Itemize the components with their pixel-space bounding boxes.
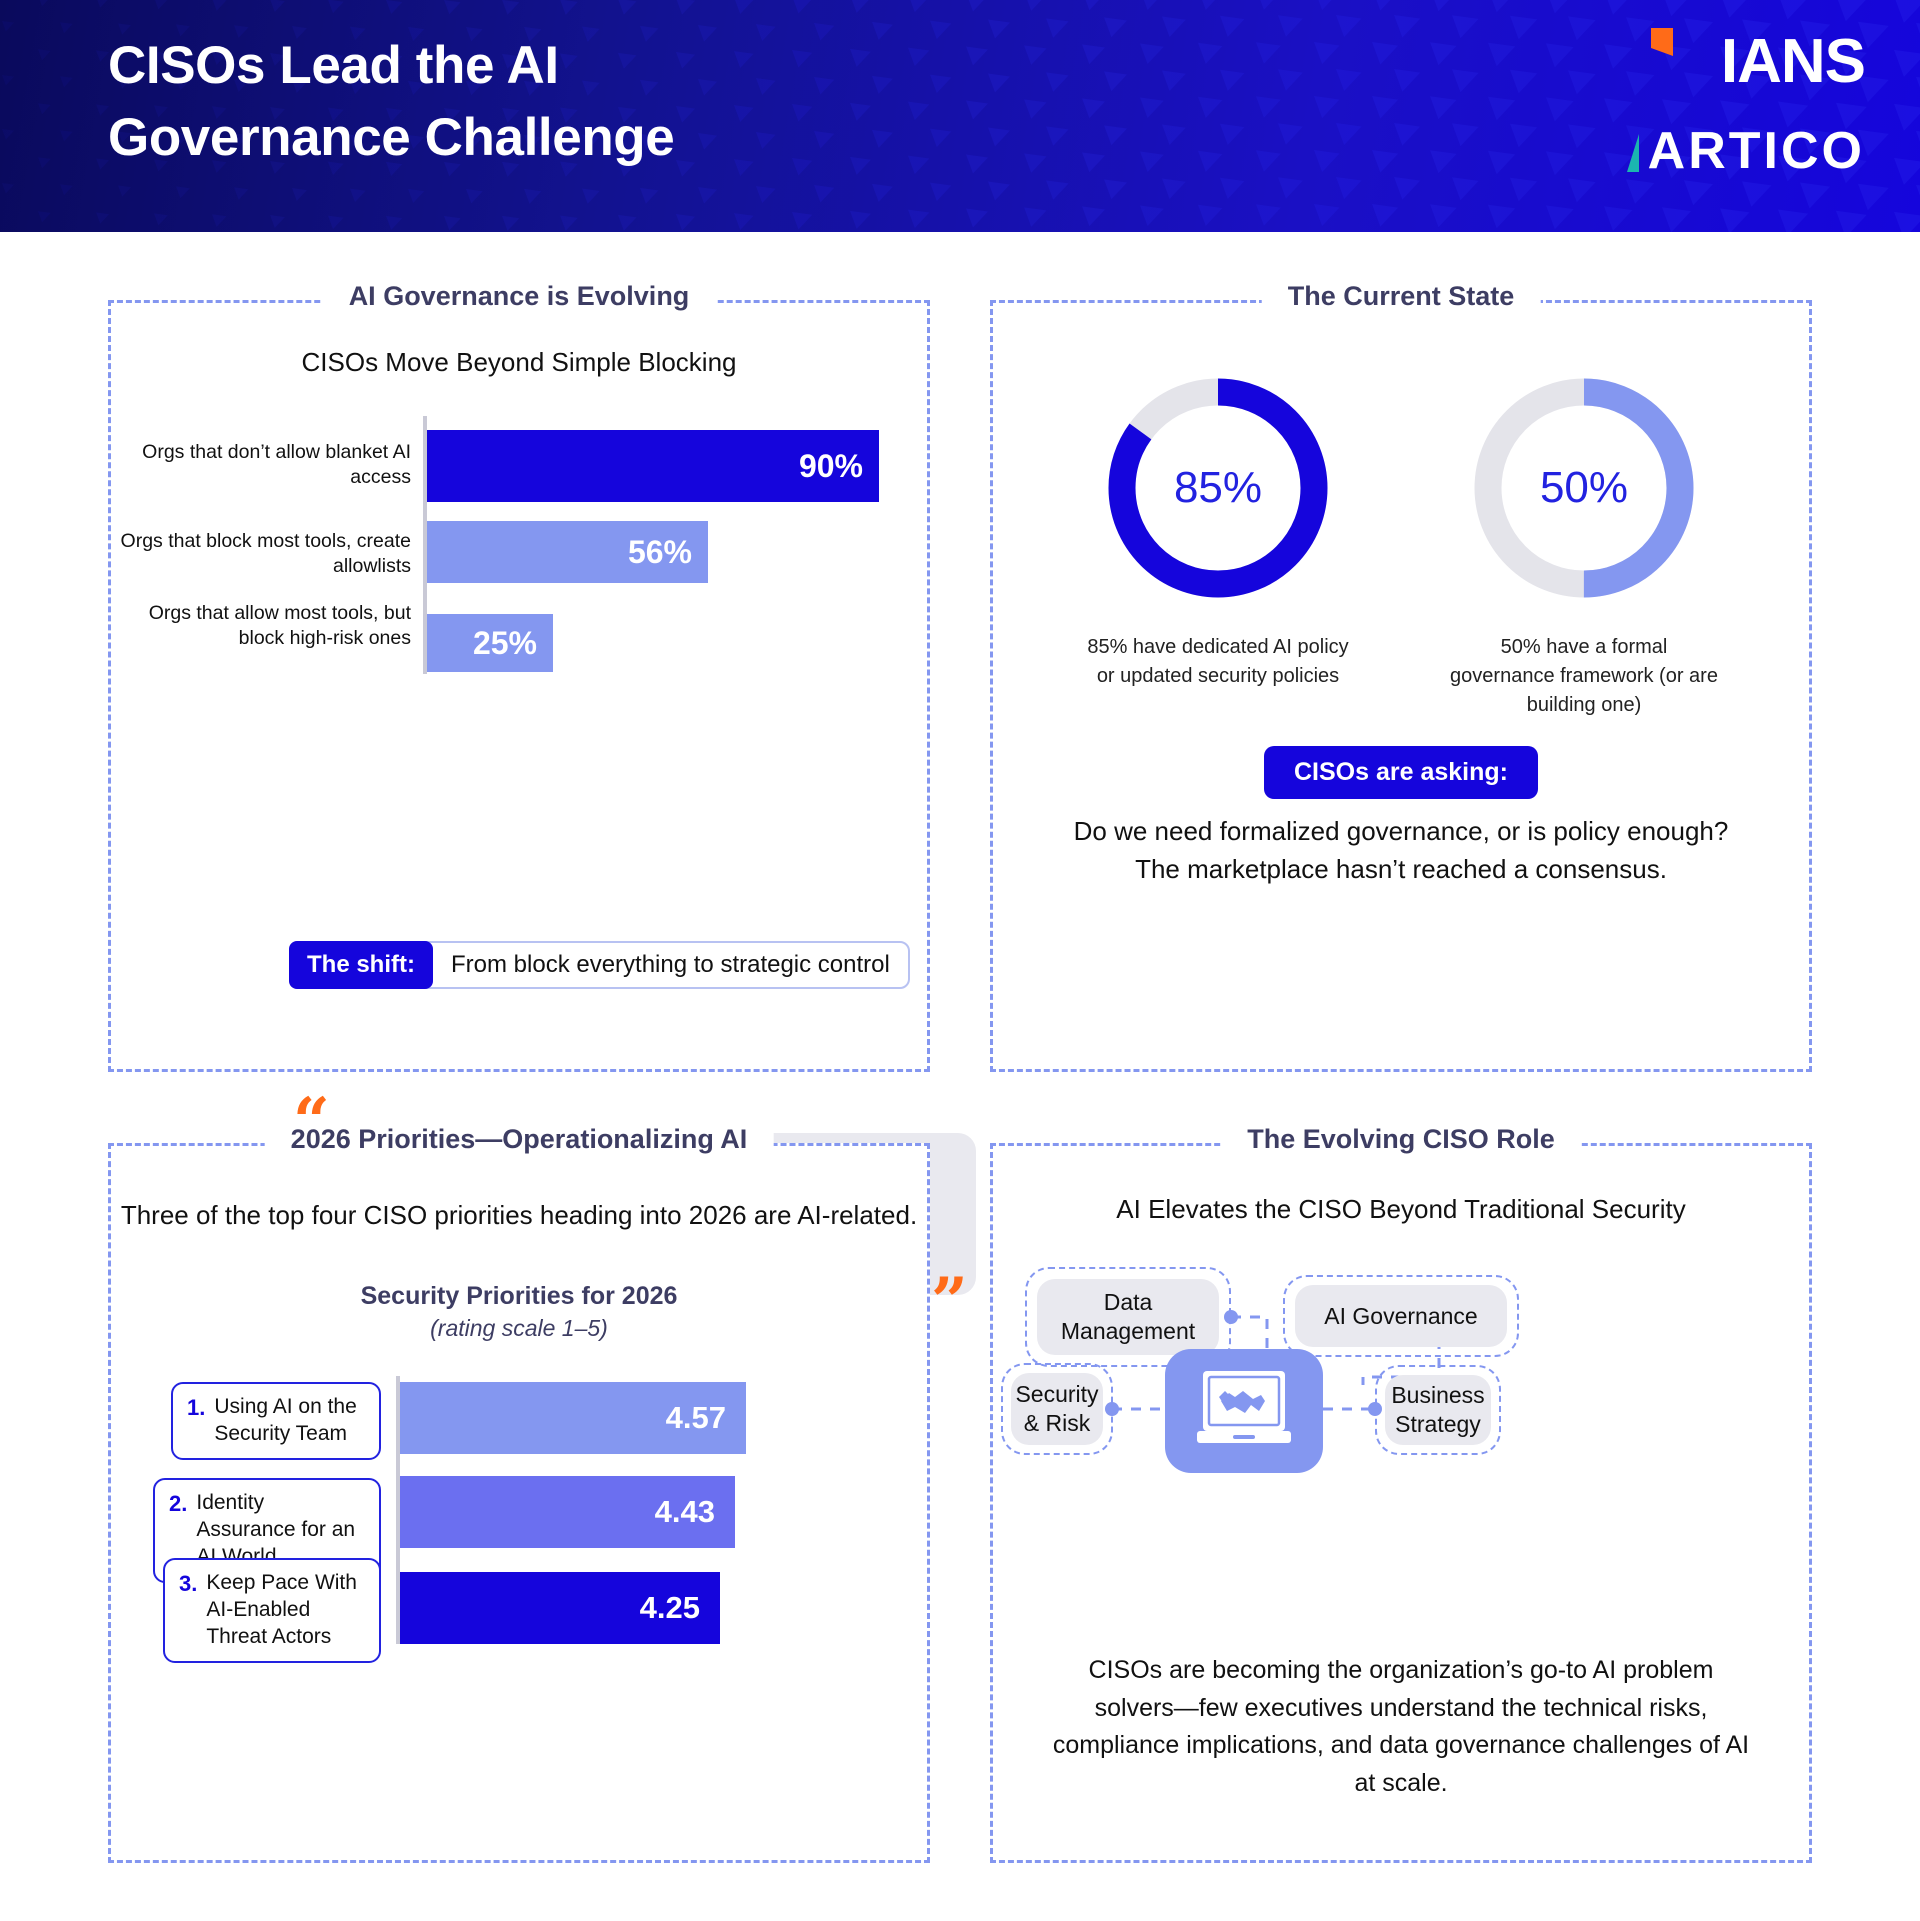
page-title: CISOs Lead the AI Governance Challenge bbox=[108, 30, 674, 174]
panel-evolving-ciso-role: The Evolving CISO Role AI Elevates the C… bbox=[990, 1143, 1812, 1863]
panel-title-bl: 2026 Priorities—Operationalizing AI bbox=[265, 1124, 774, 1155]
shift-tag-label: The shift: bbox=[289, 941, 433, 989]
node-ai-governance: AI Governance bbox=[1295, 1285, 1507, 1347]
priority-card-0: 1. Using AI on the Security Team bbox=[171, 1382, 381, 1460]
priorities-intro: Three of the top four CISO priorities he… bbox=[111, 1196, 927, 1234]
priority-bar-2: 4.25 bbox=[400, 1572, 720, 1644]
artico-logo-text: ARTICO bbox=[1648, 120, 1865, 182]
donut-col-1: 50% 50% have a formal governance framewo… bbox=[1449, 373, 1719, 720]
ians-logo-text: IANS bbox=[1721, 26, 1865, 98]
priority-bar-1: 4.43 bbox=[400, 1476, 735, 1548]
priority-rank-0: 1. bbox=[187, 1394, 205, 1422]
bar-label-2: Orgs that allow most tools, but block hi… bbox=[111, 601, 411, 652]
priority-label-2: Keep Pace With AI-Enabled Threat Actors bbox=[206, 1570, 367, 1651]
priority-rank-2: 3. bbox=[179, 1570, 197, 1598]
donut-caption-0: 85% have dedicated AI policy or updated … bbox=[1083, 633, 1353, 691]
panel-title-br: The Evolving CISO Role bbox=[1221, 1124, 1581, 1155]
bar-value-0: 90% bbox=[799, 448, 879, 485]
priority-value-1: 4.43 bbox=[655, 1494, 735, 1530]
panel-subtitle-tl: CISOs Move Beyond Simple Blocking bbox=[111, 347, 927, 378]
panel-2026-priorities: 2026 Priorities—Operationalizing AI Thre… bbox=[108, 1143, 930, 1863]
donut-caption-1: 50% have a formal governance framework (… bbox=[1449, 633, 1719, 720]
current-state-donuts: 85% 85% have dedicated AI policy or upda… bbox=[993, 373, 1809, 720]
infographic-page: CISOs Lead the AI Governance Challenge I… bbox=[0, 0, 1920, 1921]
quote-close-icon: ” bbox=[931, 1283, 968, 1321]
priority-rank-1: 2. bbox=[169, 1490, 187, 1518]
cisos-are-asking-badge: CISOs are asking: bbox=[1264, 746, 1538, 799]
artico-logo: ARTICO bbox=[1615, 120, 1865, 182]
node-data-management: Data Management bbox=[1037, 1279, 1219, 1355]
bar-2: 25% bbox=[427, 614, 553, 672]
priority-bar-0: 4.57 bbox=[400, 1382, 746, 1454]
node-business-strategy: Business Strategy bbox=[1385, 1375, 1491, 1445]
node-security-risk: Security & Risk bbox=[1011, 1373, 1103, 1445]
priority-value-0: 4.57 bbox=[666, 1400, 746, 1436]
ians-logo: IANS bbox=[1615, 26, 1865, 98]
ciso-role-diagram: Data Management AI Governance Security &… bbox=[993, 1253, 1815, 1553]
donut-value-0: 85% bbox=[1103, 463, 1333, 513]
panel-title-tl: AI Governance is Evolving bbox=[323, 281, 716, 312]
priority-card-2: 3. Keep Pace With AI-Enabled Threat Acto… bbox=[163, 1558, 381, 1663]
bar-value-2: 25% bbox=[473, 625, 553, 662]
priorities-bar-chart: 1. Using AI on the Security Team 4.57 2.… bbox=[111, 1376, 927, 1646]
bar-0: 90% bbox=[427, 430, 879, 502]
priorities-chart-title: Security Priorities for 2026 bbox=[111, 1282, 927, 1311]
blocking-bar-chart: Orgs that don’t allow blanket AI access … bbox=[111, 416, 927, 676]
shift-description: From block everything to strategic contr… bbox=[433, 943, 908, 987]
brand-logos: IANS ARTICO bbox=[1615, 26, 1865, 182]
ciso-role-footer: CISOs are becoming the organization’s go… bbox=[1051, 1652, 1751, 1802]
page-header: CISOs Lead the AI Governance Challenge I… bbox=[0, 0, 1920, 232]
handshake-laptop-icon bbox=[1189, 1367, 1299, 1455]
bar-value-1: 56% bbox=[628, 534, 708, 571]
bar-label-1: Orgs that block most tools, create allow… bbox=[111, 529, 411, 580]
donut-chart-85: 85% bbox=[1103, 373, 1333, 603]
bar-label-0: Orgs that don’t allow blanket AI access bbox=[111, 440, 411, 491]
donut-col-0: 85% 85% have dedicated AI policy or upda… bbox=[1083, 373, 1353, 720]
donut-chart-50: 50% bbox=[1469, 373, 1699, 603]
priorities-chart-subtitle: (rating scale 1–5) bbox=[111, 1315, 927, 1342]
ciso-role-subtitle: AI Elevates the CISO Beyond Traditional … bbox=[993, 1194, 1809, 1225]
panel-the-current-state: The Current State 85% 85% have dedicated… bbox=[990, 300, 1812, 1072]
the-shift-callout: The shift: From block everything to stra… bbox=[289, 941, 910, 989]
hub-laptop-handshake bbox=[1165, 1349, 1323, 1473]
donut-value-1: 50% bbox=[1469, 463, 1699, 513]
cisos-asking-question: Do we need formalized governance, or is … bbox=[1051, 813, 1751, 888]
panel-ai-governance-is-evolving: AI Governance is Evolving CISOs Move Bey… bbox=[108, 300, 930, 1072]
panel-title-tr: The Current State bbox=[1262, 281, 1541, 312]
bar-1: 56% bbox=[427, 521, 708, 583]
priority-label-0: Using AI on the Security Team bbox=[214, 1394, 367, 1448]
priority-value-2: 4.25 bbox=[640, 1590, 720, 1626]
